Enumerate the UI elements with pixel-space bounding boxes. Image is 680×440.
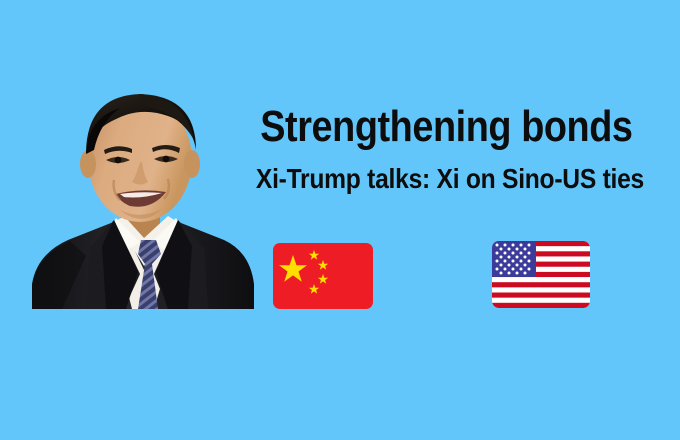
flag-china-icon (273, 243, 373, 309)
xi-jinping-portrait (28, 88, 256, 309)
headline-block: Strengthening bonds Xi-Trump talks: Xi o… (230, 104, 662, 194)
news-graphic-canvas: Strengthening bonds Xi-Trump talks: Xi o… (0, 0, 680, 440)
page-title: Strengthening bonds (260, 104, 632, 150)
symbol-row (273, 241, 590, 309)
page-subtitle: Xi-Trump talks: Xi on Sino-US ties (256, 164, 636, 194)
flag-usa-icon (492, 241, 590, 308)
